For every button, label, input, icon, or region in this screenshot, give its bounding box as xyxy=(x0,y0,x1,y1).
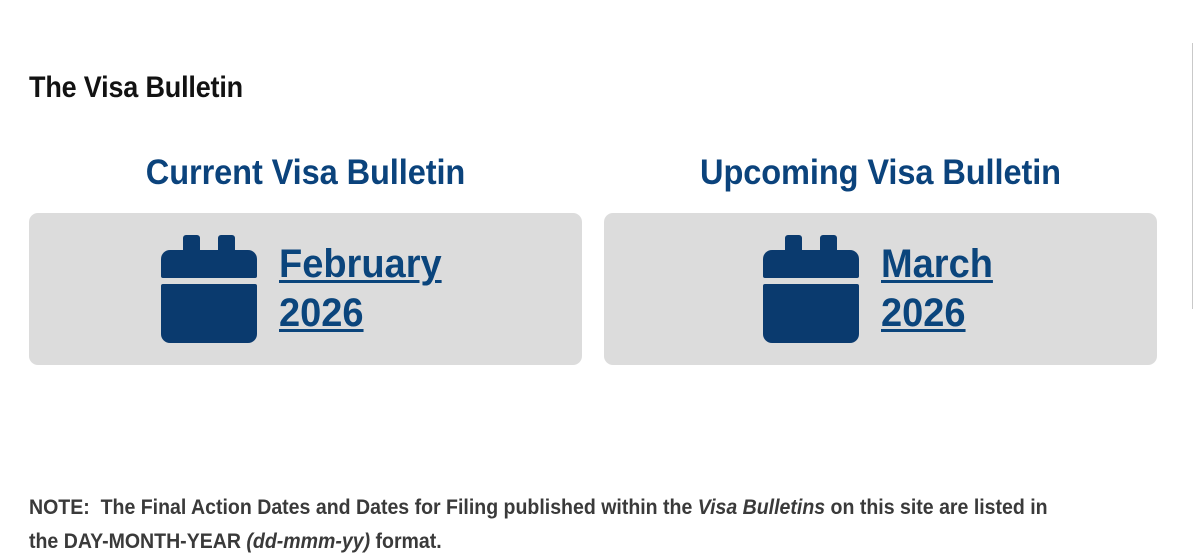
calendar-icon-header xyxy=(763,250,859,278)
upcoming-bulletin-card[interactable]: March 2026 xyxy=(604,213,1157,365)
calendar-icon xyxy=(763,235,859,343)
current-bulletin-card[interactable]: February 2026 xyxy=(29,213,582,365)
upcoming-bulletin-link[interactable]: March 2026 xyxy=(881,240,993,338)
note-part-1: The Final Action Dates and Dates for Fil… xyxy=(101,496,693,519)
calendar-icon-body xyxy=(763,284,859,343)
note-italic-2: (dd-mmm-yy) xyxy=(246,530,370,553)
note-italic-1: Visa Bulletins xyxy=(698,496,825,519)
note-label: NOTE: xyxy=(29,496,90,519)
calendar-icon xyxy=(161,235,257,343)
note-text: NOTE: The Final Action Dates and Dates f… xyxy=(29,491,1071,559)
page-title: The Visa Bulletin xyxy=(29,71,243,104)
note-part-3: format. xyxy=(376,530,442,553)
upcoming-bulletin-heading: Upcoming Visa Bulletin xyxy=(623,152,1137,194)
current-bulletin-column: Current Visa Bulletin February 2026 xyxy=(29,152,582,365)
current-bulletin-card-content: February 2026 xyxy=(161,235,450,343)
upcoming-bulletin-link-year: 2026 xyxy=(881,289,993,338)
calendar-icon-body xyxy=(161,284,257,343)
bulletin-columns: Current Visa Bulletin February 2026 xyxy=(29,152,1157,365)
right-divider-rule xyxy=(1192,43,1193,309)
upcoming-bulletin-link-month: March xyxy=(881,240,993,289)
current-bulletin-link[interactable]: February 2026 xyxy=(279,240,442,338)
current-bulletin-heading: Current Visa Bulletin xyxy=(48,152,562,194)
upcoming-bulletin-column: Upcoming Visa Bulletin March 2026 xyxy=(604,152,1157,365)
calendar-icon-header xyxy=(161,250,257,278)
visa-bulletin-page: The Visa Bulletin Current Visa Bulletin … xyxy=(0,0,1197,558)
current-bulletin-link-month: February xyxy=(279,240,442,289)
current-bulletin-link-year: 2026 xyxy=(279,289,442,338)
upcoming-bulletin-card-content: March 2026 xyxy=(763,235,999,343)
